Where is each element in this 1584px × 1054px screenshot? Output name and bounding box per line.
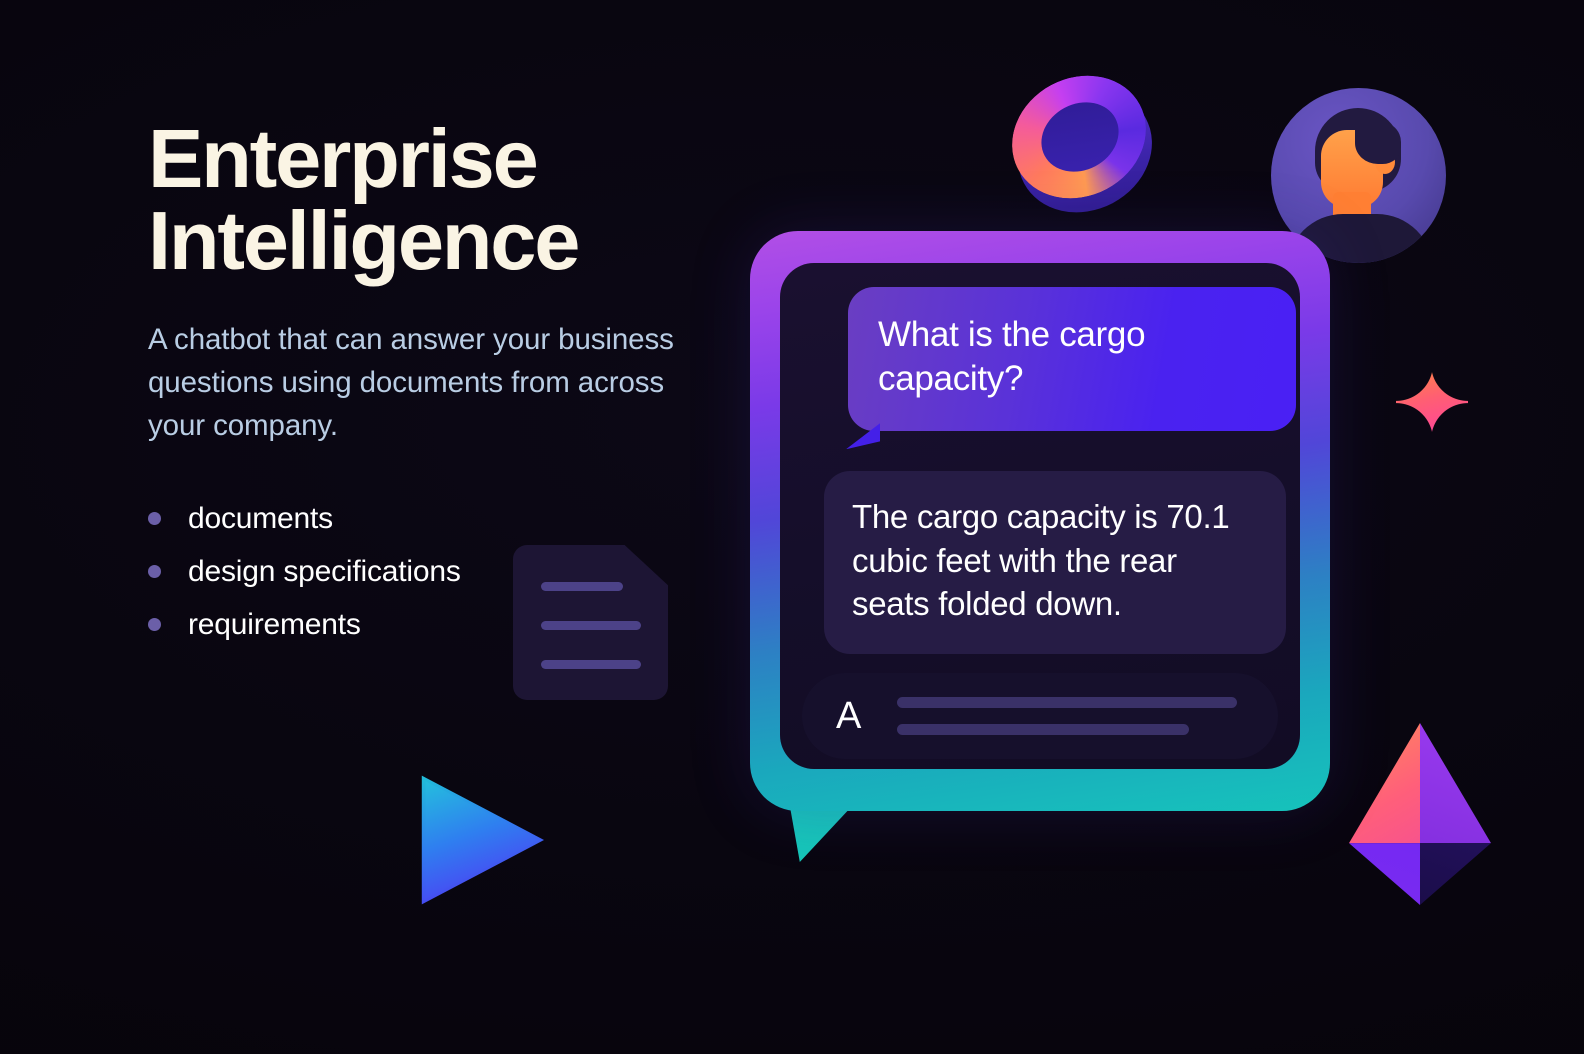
torus-shape-icon — [1010, 78, 1158, 210]
bullet-dot-icon — [148, 618, 161, 631]
question-bubble: What is the cargo capacity? — [848, 287, 1296, 431]
input-placeholder-lines — [897, 697, 1244, 735]
octahedron-shape-icon — [1349, 723, 1491, 905]
document-line — [541, 582, 623, 591]
document-line — [541, 660, 641, 669]
chat-panel: What is the cargo capacity? The cargo ca… — [780, 263, 1300, 769]
document-line — [541, 621, 641, 630]
avatar-fringe — [1355, 122, 1401, 164]
chat-input-bar[interactable]: A — [802, 673, 1278, 759]
page-title: Enterprise Intelligence — [148, 118, 748, 282]
bullet-dot-icon — [148, 512, 161, 525]
answer-bubble: The cargo capacity is 70.1 cubic feet wi… — [824, 471, 1286, 654]
placeholder-bar — [897, 724, 1188, 735]
list-item-label: design specifications — [188, 555, 461, 589]
placeholder-bar — [897, 697, 1237, 708]
document-icon — [513, 545, 668, 700]
sparkle-star-icon — [1396, 364, 1468, 440]
question-text: What is the cargo capacity? — [878, 315, 1145, 398]
list-item-label: documents — [188, 502, 333, 536]
poster-canvas: Enterprise Intelligence A chatbot that c… — [0, 0, 1584, 1054]
list-item: documents — [148, 502, 748, 536]
list-item-label: requirements — [188, 608, 361, 642]
input-label: A — [836, 697, 861, 735]
title-line-2: Intelligence — [148, 200, 748, 282]
title-line-1: Enterprise — [148, 118, 748, 200]
play-triangle-icon — [418, 770, 544, 910]
chat-window: What is the cargo capacity? The cargo ca… — [750, 231, 1330, 811]
question-bubble-tail — [846, 423, 880, 449]
answer-text: The cargo capacity is 70.1 cubic feet wi… — [852, 498, 1229, 622]
page-subtitle: A chatbot that can answer your business … — [148, 318, 713, 447]
bullet-dot-icon — [148, 565, 161, 578]
